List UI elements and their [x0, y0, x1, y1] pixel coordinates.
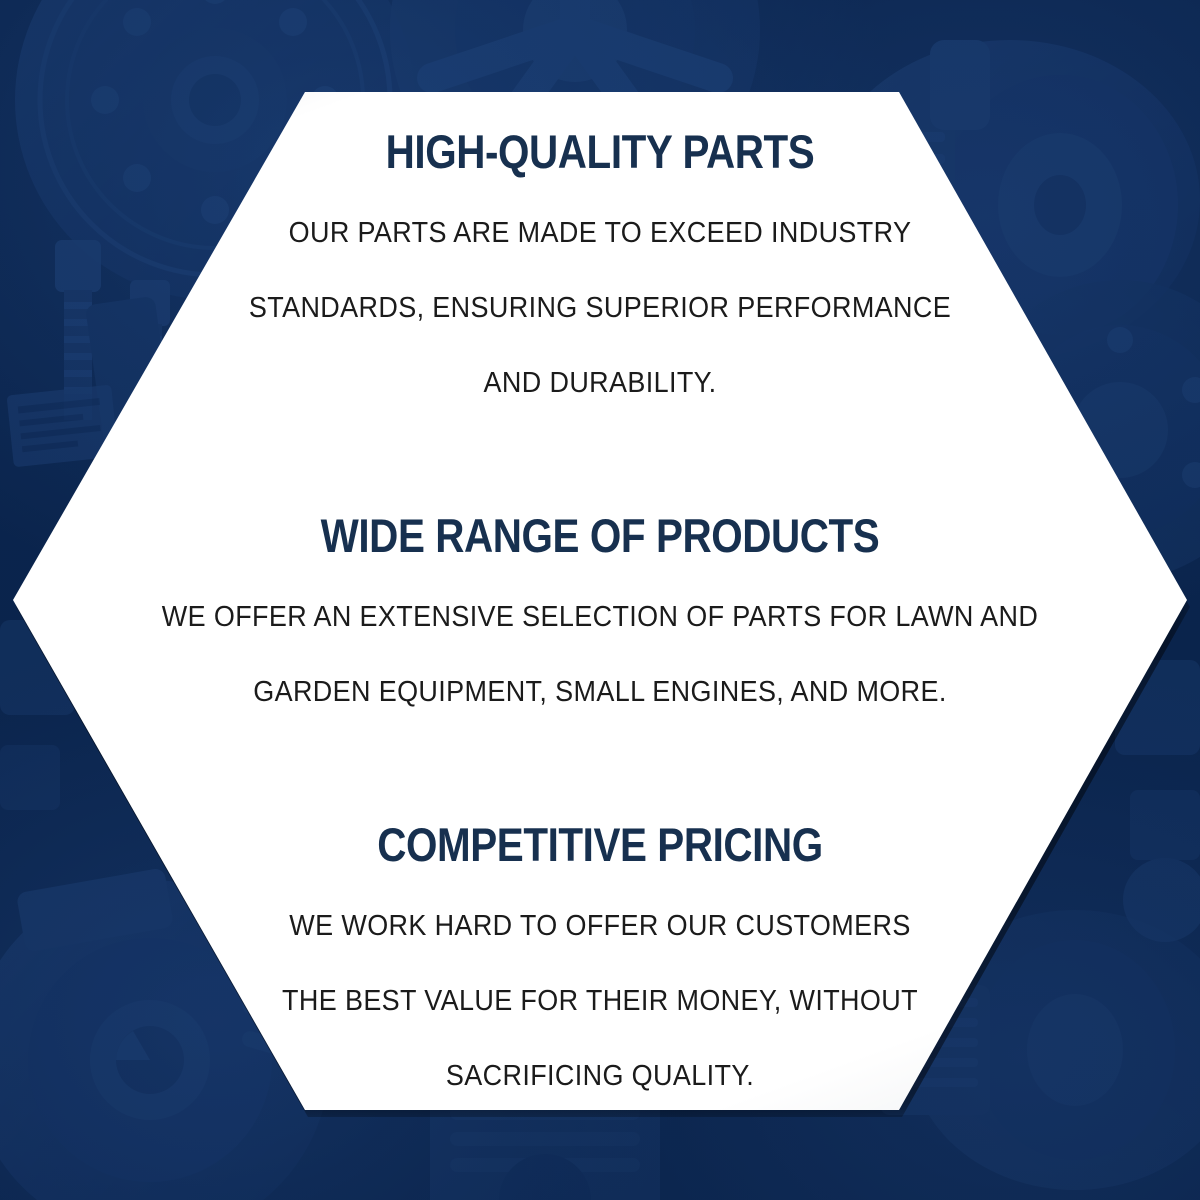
- feature-body-line: WE WORK HARD TO OFFER OUR CUSTOMERS: [54, 912, 1146, 941]
- promo-banner: HIGH-QUALITY PARTS OUR PARTS ARE MADE TO…: [0, 0, 1200, 1200]
- feature-body: OUR PARTS ARE MADE TO EXCEED INDUSTRY ST…: [54, 219, 1146, 398]
- feature-title: COMPETITIVE PRICING: [95, 821, 1105, 868]
- feature-wide-range-of-products: WIDE RANGE OF PRODUCTS WE OFFER AN EXTEN…: [13, 473, 1187, 736]
- feature-body-line: GARDEN EQUIPMENT, SMALL ENGINES, AND MOR…: [54, 678, 1146, 707]
- feature-body-line: WE OFFER AN EXTENSIVE SELECTION OF PARTS…: [54, 603, 1146, 632]
- feature-body: WE OFFER AN EXTENSIVE SELECTION OF PARTS…: [54, 603, 1146, 707]
- feature-title: WIDE RANGE OF PRODUCTS: [95, 512, 1105, 559]
- feature-body-line: AND DURABILITY.: [54, 369, 1146, 398]
- feature-body-line: STANDARDS, ENSURING SUPERIOR PERFORMANCE: [54, 294, 1146, 323]
